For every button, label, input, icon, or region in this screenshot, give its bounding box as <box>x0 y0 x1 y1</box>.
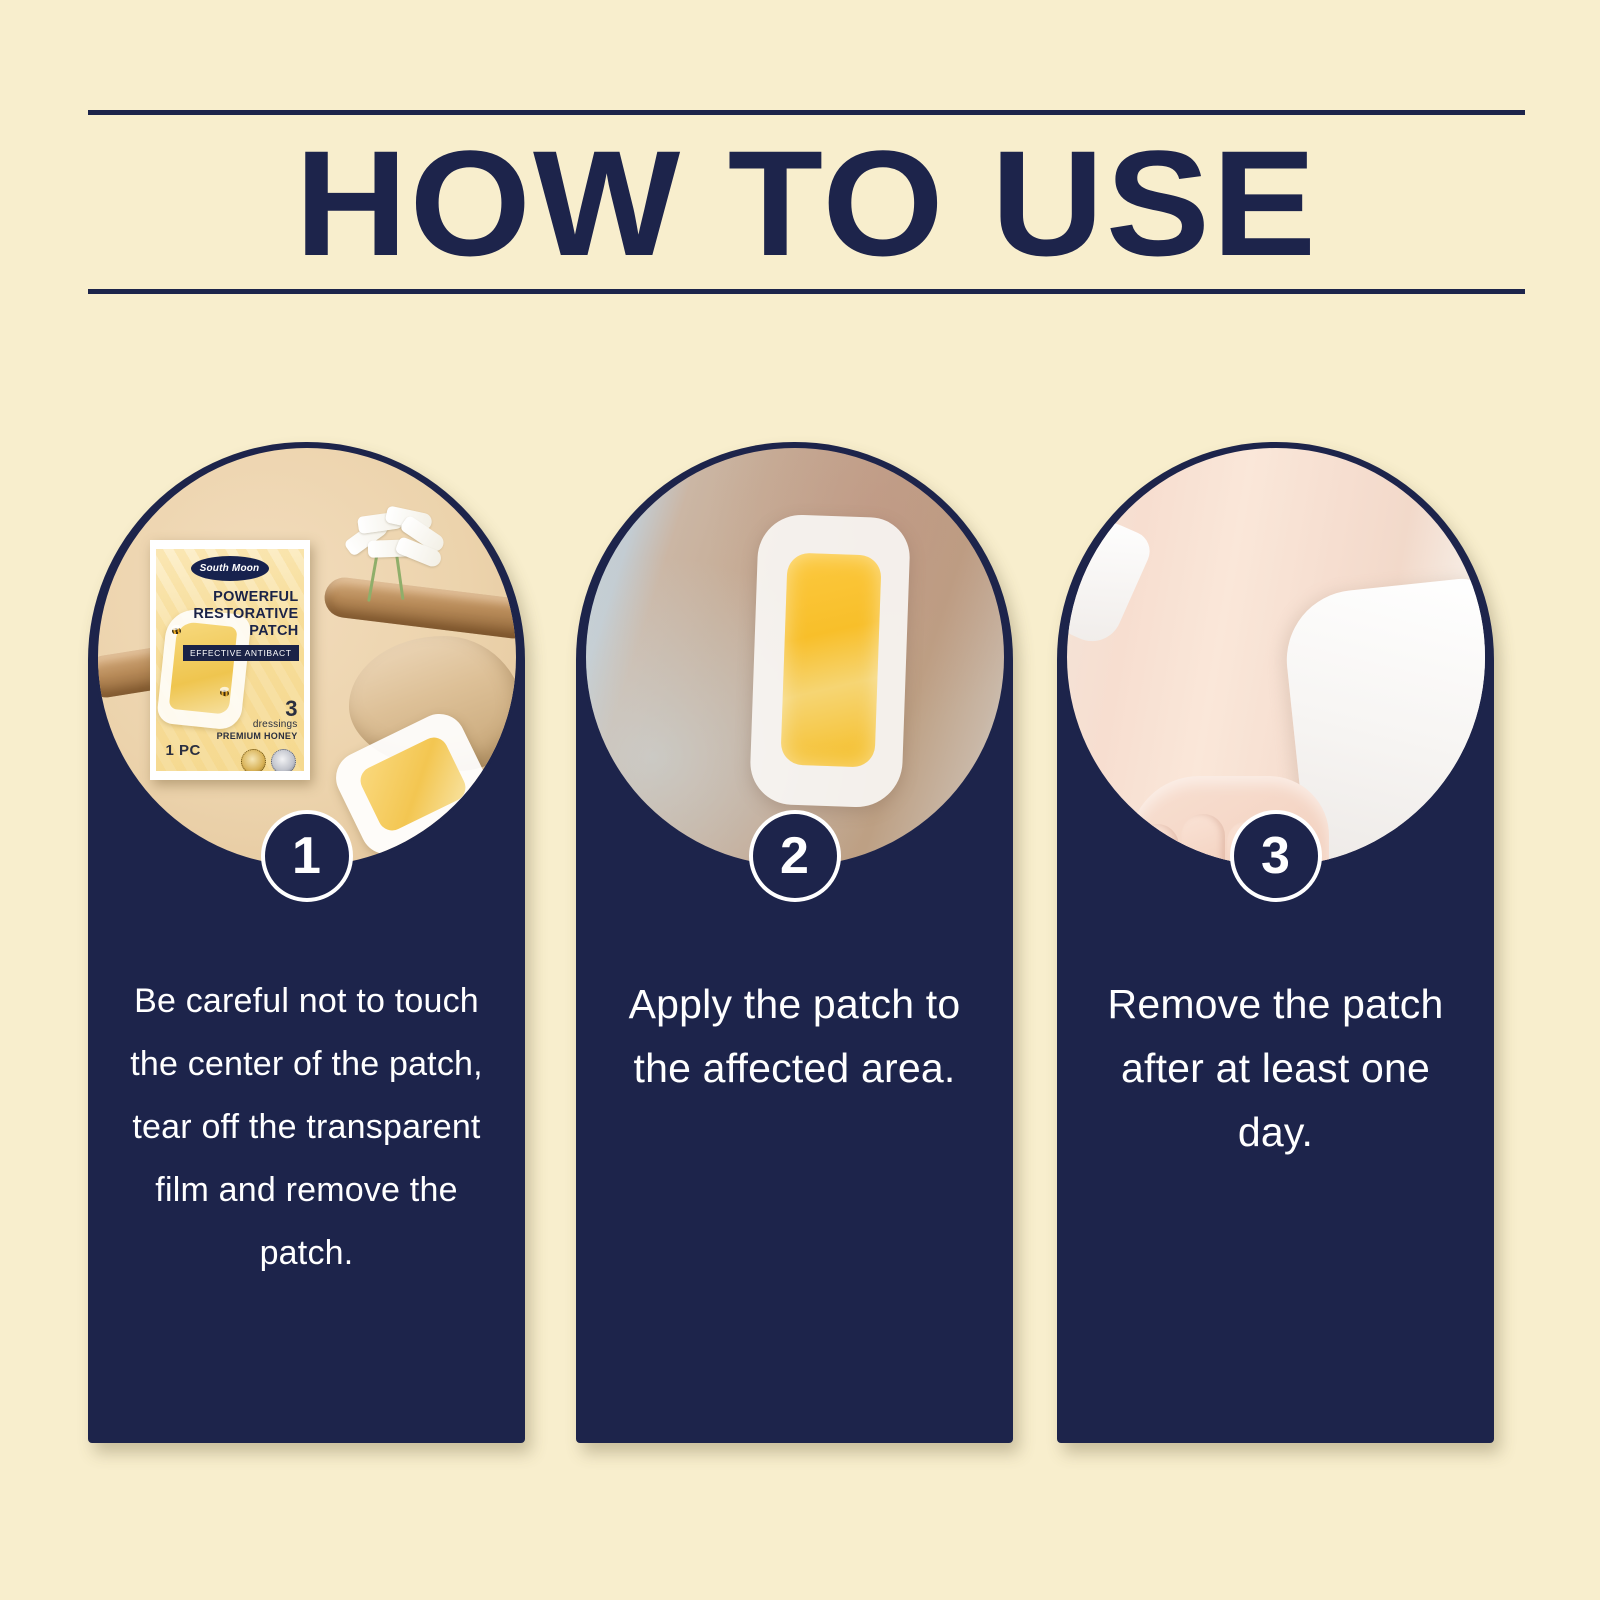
clothing-strap-icon <box>1064 509 1156 650</box>
step-description-1: Be careful not to touch the center of th… <box>114 970 499 1285</box>
patch-applied-on-skin-photo <box>586 448 1004 866</box>
step-description-2: Apply the patch to the affected area. <box>602 972 987 1100</box>
step-number-badge-3: 3 <box>1230 810 1322 902</box>
page-header: HOW TO USE <box>88 110 1525 294</box>
package-quantity: 1 PC <box>166 742 201 759</box>
step-number-badge-2: 2 <box>749 810 841 902</box>
step-card-1[interactable]: South Moon POWERFUL RESTORATIVE PATCH EF… <box>88 442 525 1443</box>
white-flowers-icon <box>338 506 458 606</box>
brand-logo: South Moon <box>191 556 269 581</box>
step-description-3: Remove the patch after at least one day. <box>1083 972 1468 1164</box>
dressing-count: 3 dressings PREMIUM HONEY <box>217 699 298 741</box>
step-1-photo: South Moon POWERFUL RESTORATIVE PATCH EF… <box>95 445 519 869</box>
dressing-count-label: dressings <box>217 719 298 730</box>
antibacterial-badge: EFFECTIVE ANTIBACT <box>183 645 298 661</box>
certification-seals <box>241 749 296 771</box>
product-name: POWERFUL RESTORATIVE PATCH <box>156 589 299 640</box>
honey-patch-icon <box>748 513 910 808</box>
steps-container: South Moon POWERFUL RESTORATIVE PATCH EF… <box>88 442 1528 1452</box>
dressing-count-number: 3 <box>217 699 298 719</box>
step-3-photo <box>1064 445 1488 869</box>
product-box-front: South Moon POWERFUL RESTORATIVE PATCH EF… <box>156 549 304 771</box>
step-card-2[interactable]: 2 Apply the patch to the affected area. <box>576 442 1013 1443</box>
silver-seal-icon <box>271 749 296 771</box>
step-number-badge-1: 1 <box>261 810 353 902</box>
gold-seal-icon <box>241 749 266 771</box>
product-package-photo: South Moon POWERFUL RESTORATIVE PATCH EF… <box>98 448 516 866</box>
title-rule-bottom <box>88 289 1525 294</box>
step-2-photo <box>583 445 1007 869</box>
clear-skin-result-photo <box>1067 448 1485 866</box>
premium-honey-label: PREMIUM HONEY <box>217 731 298 741</box>
product-box: South Moon POWERFUL RESTORATIVE PATCH EF… <box>150 540 310 780</box>
page-title: HOW TO USE <box>59 115 1553 289</box>
step-card-3[interactable]: 3 Remove the patch after at least one da… <box>1057 442 1494 1443</box>
